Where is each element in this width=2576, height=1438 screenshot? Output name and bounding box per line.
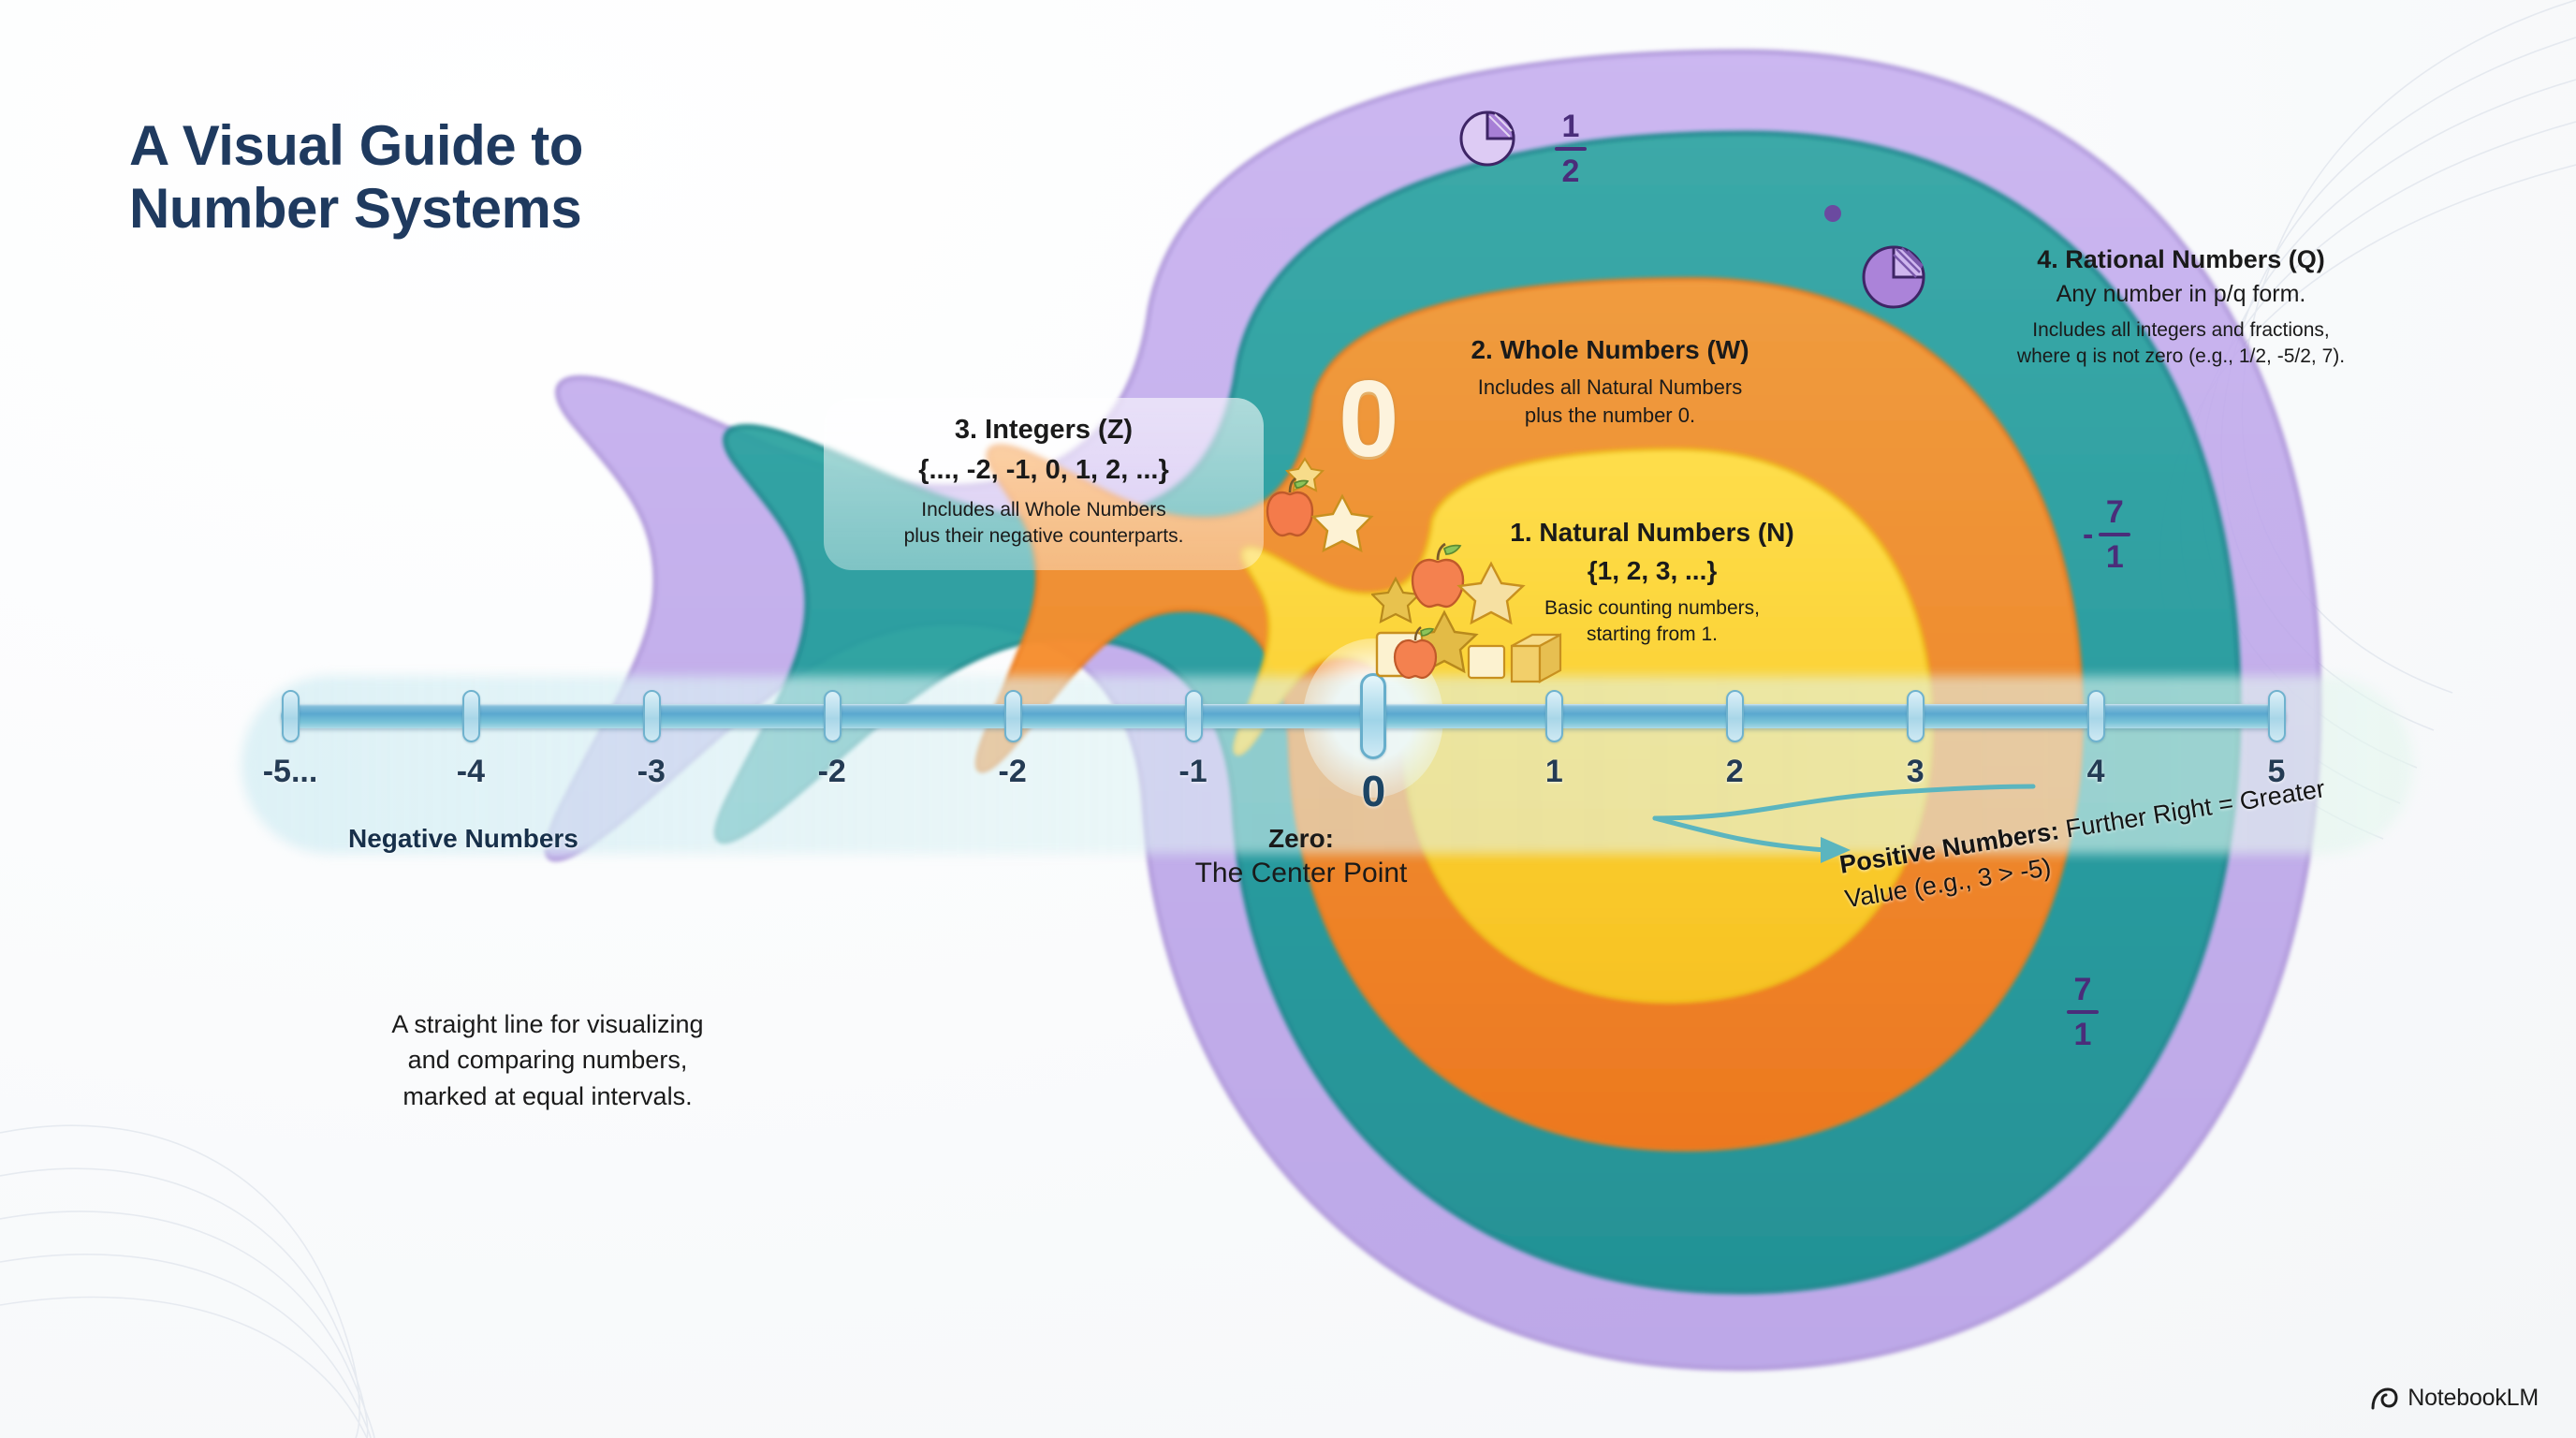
fraction-one-half: 1 2 (1549, 110, 1587, 187)
number-line-tick[interactable] (1907, 690, 1925, 742)
callout-rational-numbers: 4. Rational Numbers (Q) Any number in p/… (1938, 245, 2424, 369)
pie-chart-icon (1456, 101, 1525, 170)
number-line-tick-label: -4 (457, 754, 485, 790)
number-line-tick-label: -1 (1178, 754, 1207, 790)
number-line-tick[interactable] (1726, 690, 1744, 742)
fraction-denominator: 1 (2074, 1016, 2092, 1050)
line-desc-2: and comparing numbers, (309, 1042, 786, 1078)
fraction-denominator: 2 (1562, 153, 1580, 187)
natural-set-notation: {1, 2, 3, ...} (1460, 556, 1844, 586)
number-line-bar[interactable] (281, 704, 2286, 728)
apple-icon (1412, 544, 1463, 607)
number-line-tick[interactable] (2087, 690, 2105, 742)
whole-desc-2: plus the number 0. (1423, 402, 1797, 430)
number-line-tick-label: 4 (2087, 754, 2105, 790)
fraction-negative-seven-over-one: - 7 1 (2083, 496, 2130, 573)
zero-caption-body: The Center Point (1151, 858, 1451, 889)
number-line-tick[interactable] (1545, 690, 1563, 742)
integers-desc-2: plus their negative counterparts. (837, 523, 1251, 550)
star-icon (1287, 459, 1323, 491)
fraction-sign: - (2083, 519, 2093, 550)
rational-desc-2: Includes all integers and fractions, (1938, 317, 2424, 344)
number-line-tick-label: -2 (818, 754, 846, 790)
natural-heading: 1. Natural Numbers (N) (1460, 518, 1844, 548)
number-line-tick-label: 0 (1362, 766, 1386, 816)
callout-natural-numbers: 1. Natural Numbers (N) {1, 2, 3, ...} Ba… (1460, 518, 1844, 649)
zero-caption: Zero: The Center Point (1151, 824, 1451, 889)
number-line-tick[interactable] (282, 690, 300, 742)
natural-desc-1: Basic counting numbers, (1460, 595, 1844, 622)
number-line-tick[interactable] (1185, 690, 1203, 742)
line-desc-3: marked at equal intervals. (309, 1078, 786, 1114)
fraction-numerator: 7 (2074, 974, 2092, 1008)
number-line-tick-label: 1 (1545, 754, 1563, 790)
title-line-2: Number Systems (129, 177, 583, 240)
number-line-tick[interactable] (824, 690, 842, 742)
fraction-numerator: 7 (2106, 496, 2124, 531)
decorative-dot-icon (1824, 205, 1841, 222)
number-line-tick-label: -3 (637, 754, 666, 790)
fraction-bar (2067, 1010, 2099, 1014)
number-line-tick-label: -2 (999, 754, 1027, 790)
apple-icon (1267, 478, 1312, 536)
number-line-description: A straight line for visualizing and comp… (309, 1006, 786, 1114)
number-line-tick[interactable] (2268, 690, 2286, 742)
line-desc-1: A straight line for visualizing (309, 1006, 786, 1042)
number-line-tick[interactable] (643, 690, 661, 742)
negative-numbers-label: Negative Numbers (348, 824, 578, 854)
watermark-label: NotebookLM (2408, 1385, 2539, 1412)
notebooklm-watermark: NotebookLM (2370, 1385, 2539, 1412)
fraction-numerator: 1 (1562, 110, 1580, 145)
fraction-bar (2099, 533, 2130, 536)
star-icon (1313, 496, 1371, 550)
number-line-tick[interactable] (462, 690, 480, 742)
page-title: A Visual Guide to Number Systems (129, 114, 583, 240)
pie-chart-striped-icon (1858, 234, 1939, 315)
fraction-denominator: 1 (2106, 538, 2124, 573)
fraction-bar (1555, 147, 1587, 151)
rational-heading: 4. Rational Numbers (Q) (1938, 245, 2424, 274)
square-icon (1469, 646, 1504, 678)
integers-set-notation: {..., -2, -1, 0, 1, 2, ...} (837, 455, 1251, 486)
zero-caption-title: Zero: (1151, 824, 1451, 854)
whole-desc-1: Includes all Natural Numbers (1423, 374, 1797, 402)
callout-whole-numbers: 2. Whole Numbers (W) Includes all Natura… (1423, 335, 1797, 430)
rational-desc-1: Any number in p/q form. (1938, 281, 2424, 308)
integers-desc-1: Includes all Whole Numbers (837, 497, 1251, 523)
rational-desc-3: where q is not zero (e.g., 1/2, -5/2, 7)… (1938, 344, 2424, 370)
whole-heading: 2. Whole Numbers (W) (1423, 335, 1797, 365)
integers-heading: 3. Integers (Z) (837, 415, 1251, 446)
title-line-1: A Visual Guide to (129, 114, 583, 177)
callout-integers: 3. Integers (Z) {..., -2, -1, 0, 1, 2, .… (824, 398, 1264, 570)
natural-desc-2: starting from 1. (1460, 622, 1844, 648)
number-line-tick-label: -5... (263, 754, 318, 790)
fraction-seven-over-one: 7 1 (2061, 974, 2099, 1050)
number-line-tick[interactable] (1004, 690, 1022, 742)
notebooklm-logo-icon (2370, 1387, 2398, 1411)
